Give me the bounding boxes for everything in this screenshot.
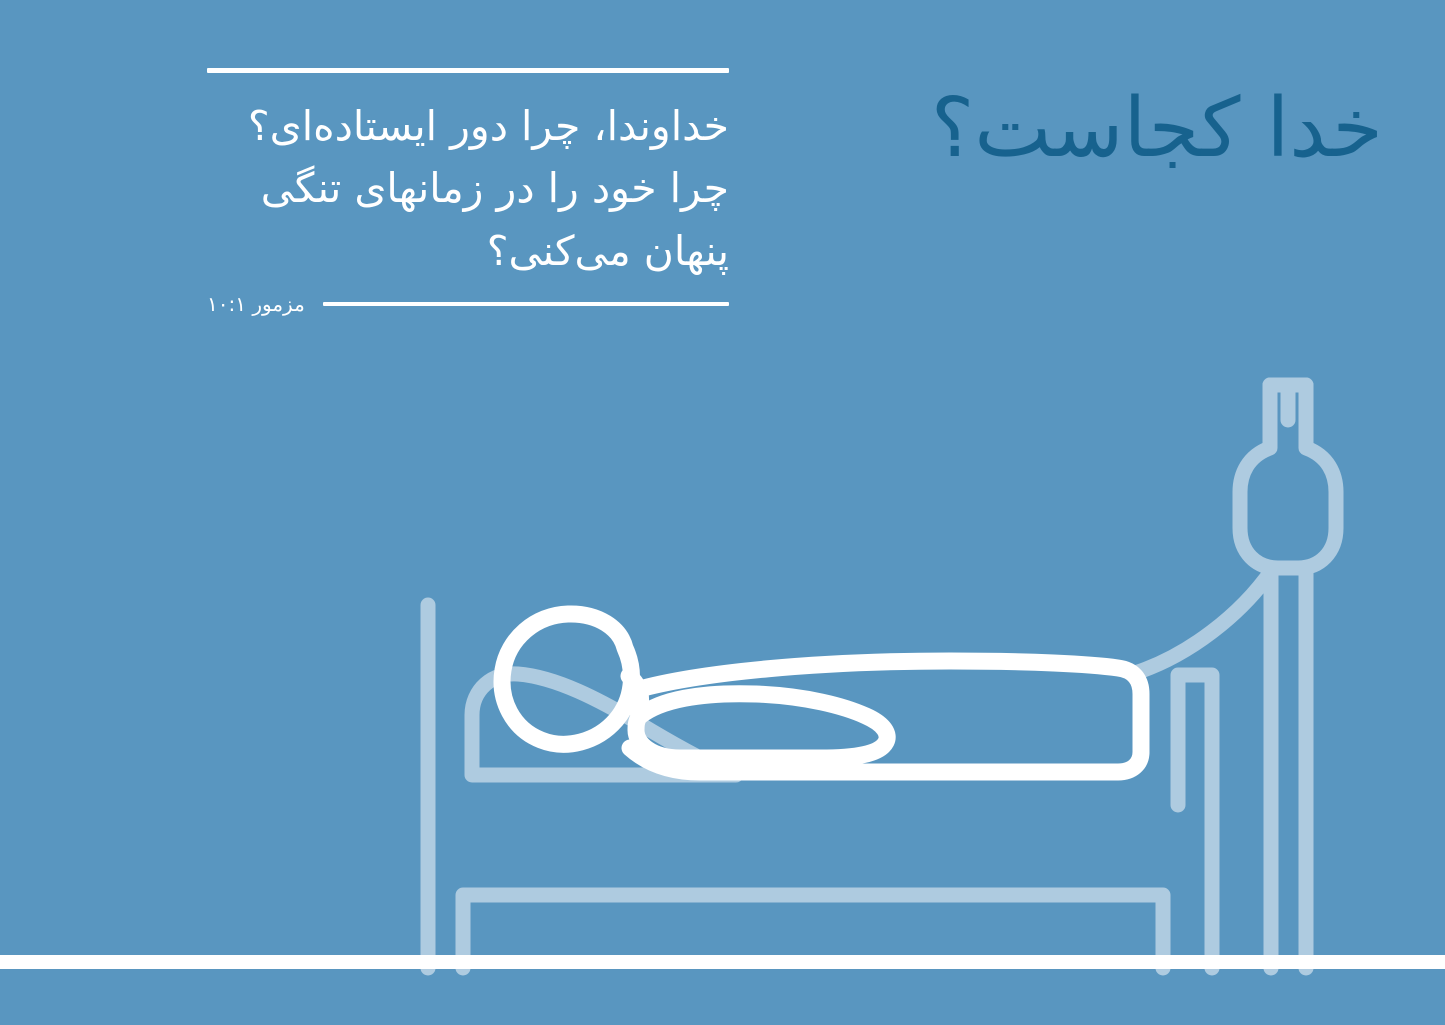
- verse-bottom-divider: [323, 302, 729, 306]
- floor-line: [0, 955, 1445, 969]
- bed-footboard: [1178, 675, 1212, 968]
- verse-reference-row: مزمور ۱۰:۱: [207, 292, 729, 316]
- verse-line-2: چرا خود را در زمانهای تنگی: [207, 157, 729, 219]
- verse-block: خداوندا، چرا دور ایستاده‌ای؟ چرا خود را …: [207, 68, 729, 316]
- verse-line-3: پنهان می‌کنی؟: [207, 220, 729, 282]
- verse-text: خداوندا، چرا دور ایستاده‌ای؟ چرا خود را …: [207, 95, 729, 282]
- verse-reference: مزمور ۱۰:۱: [207, 292, 305, 316]
- page-title: خدا کجاست؟: [763, 84, 1383, 174]
- iv-tube: [1138, 570, 1272, 672]
- verse-top-divider: [207, 68, 729, 73]
- poster-canvas: خدا کجاست؟ خداوندا، چرا دور ایستاده‌ای؟ …: [0, 0, 1445, 1025]
- verse-line-1: خداوندا، چرا دور ایستاده‌ای؟: [207, 95, 729, 157]
